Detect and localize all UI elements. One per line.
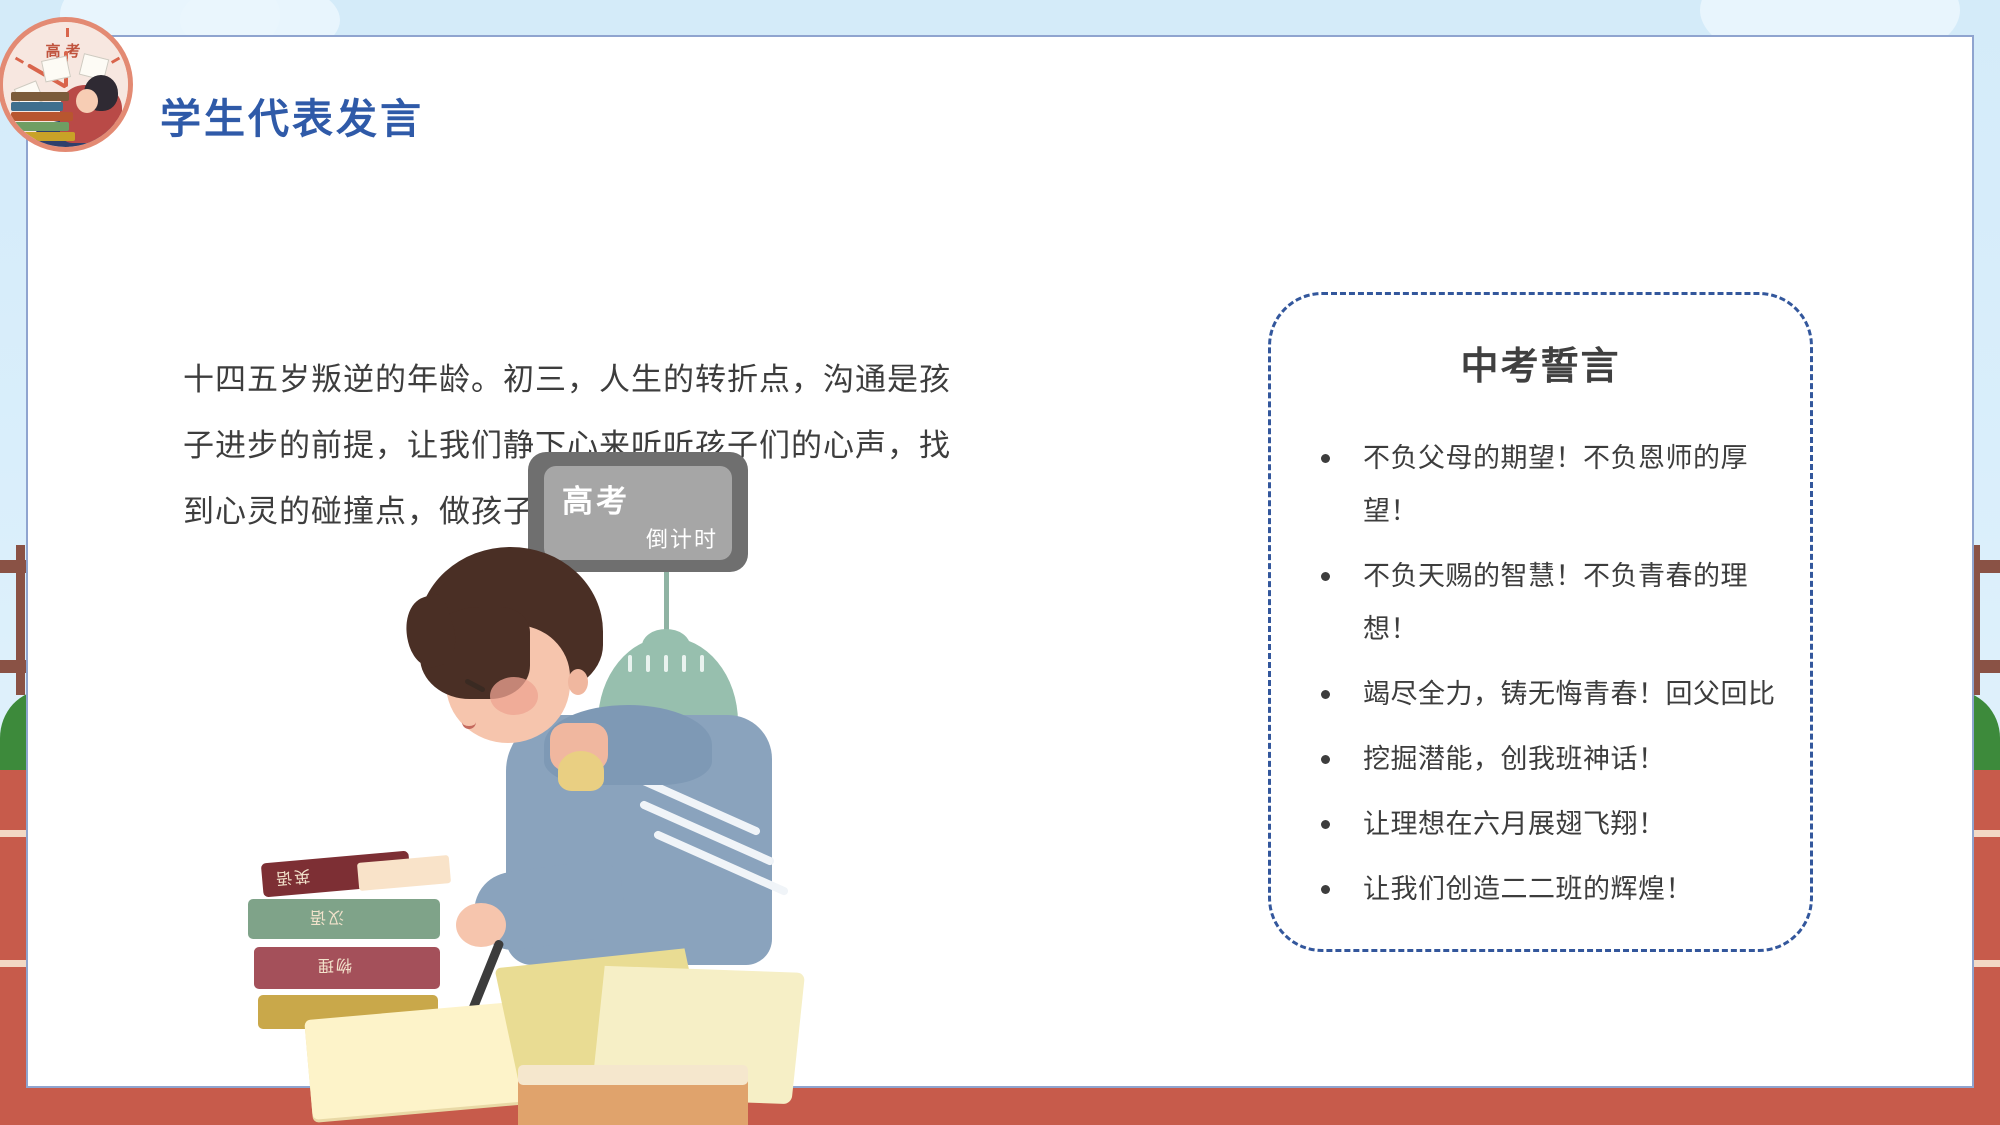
book-spine-label: 英语 [273,865,311,892]
list-item: 让我们创造二二班的辉煌！ [1305,863,1776,916]
book-stack [11,89,75,141]
lamp-slit [700,655,704,672]
countdown-sign: 高考 倒计时 [528,452,748,572]
bullet-icon [1321,572,1330,581]
page-title: 学生代表发言 [160,85,424,145]
student-studying-illustration: 高考 倒计时 英语 汉语 [268,537,988,1097]
exam-clock-badge-icon: 高考 [0,17,133,152]
book [11,102,63,111]
student-face [76,89,98,113]
oath-title: 中考誓言 [1305,335,1776,390]
lamp-slit [664,655,668,672]
list-item: 不负父母的期望！不负恩师的厚望！ [1305,432,1776,538]
book [11,122,69,131]
fence-post [16,545,25,695]
list-item: 不负天赐的智慧！不负青春的理想！ [1305,550,1776,656]
student-cheek [490,677,538,715]
clock-tick [66,28,69,37]
oath-list: 不负父母的期望！不负恩师的厚望！ 不负天赐的智慧！不负青春的理想！ 竭尽全力，铸… [1305,432,1776,916]
book-spine-label: 汉语 [308,907,344,931]
list-item: 竭尽全力，铸无悔青春！回父回比 [1305,668,1776,721]
bullet-icon [1321,690,1330,699]
book: 汉语 [248,899,440,939]
oath-panel: 中考誓言 不负父母的期望！不负恩师的厚望！ 不负天赐的智慧！不负青春的理想！ 竭… [1268,292,1813,952]
slide-content-card: 高考 学生代表发言 十四五岁叛逆的年龄。初三，人生的转折点，沟通是孩子进步的前提… [26,35,1974,1088]
list-item: 挖掘潜能，创我班神话！ [1305,733,1776,786]
bullet-icon [1321,885,1330,894]
sign-main-text: 高考 [562,476,630,521]
lamp-slit [682,655,686,672]
lamp-slit [646,655,650,672]
bullet-icon [1321,820,1330,829]
list-item: 让理想在六月展翅飞翔！ [1305,798,1776,851]
desk-book-pages [518,1065,748,1085]
oath-item-text: 不负天赐的智慧！不负青春的理想！ [1363,561,1748,644]
book [11,92,69,101]
bullet-icon [1321,454,1330,463]
oath-item-text: 让我们创造二二班的辉煌！ [1363,874,1693,904]
oath-item-text: 让理想在六月展翅飞翔！ [1363,809,1666,839]
oath-item-text: 挖掘潜能，创我班神话！ [1363,744,1666,774]
bullet-icon [1321,755,1330,764]
student-collar [558,751,604,791]
sign-sub-text: 倒计时 [646,522,718,554]
book-spine-label: 物理 [316,955,352,979]
student-ear [568,669,588,695]
lamp-slit [628,655,632,672]
book: 物理 [254,947,440,989]
book [11,132,75,141]
oath-item-text: 竭尽全力，铸无悔青春！回父回比 [1363,679,1776,709]
book [11,112,73,121]
slide-header: 高考 学生代表发言 [28,37,1972,187]
sign-panel: 高考 倒计时 [544,466,732,560]
oath-item-text: 不负父母的期望！不负恩师的厚望！ [1363,443,1748,526]
